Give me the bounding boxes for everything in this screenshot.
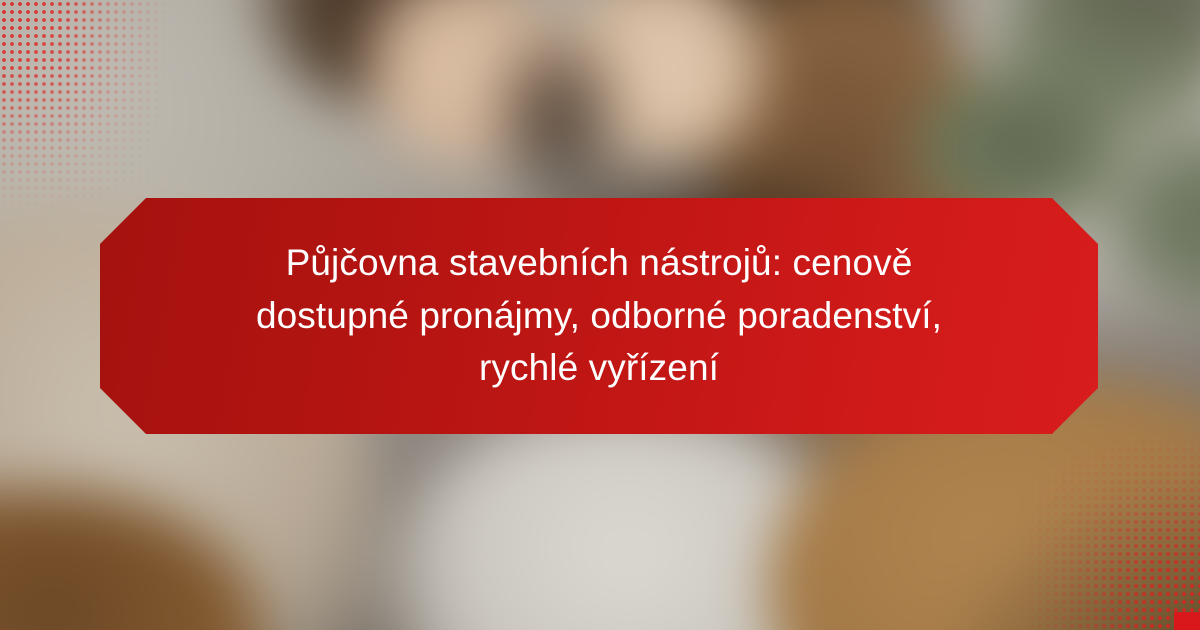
headline-text: Půjčovna stavebních nástrojů: cenově dos… [174,237,1024,395]
headline-banner: Půjčovna stavebních nástrojů: cenově dos… [100,198,1098,434]
corner-accent-chip [1174,612,1200,630]
social-share-card: Půjčovna stavebních nástrojů: cenově dos… [0,0,1200,630]
